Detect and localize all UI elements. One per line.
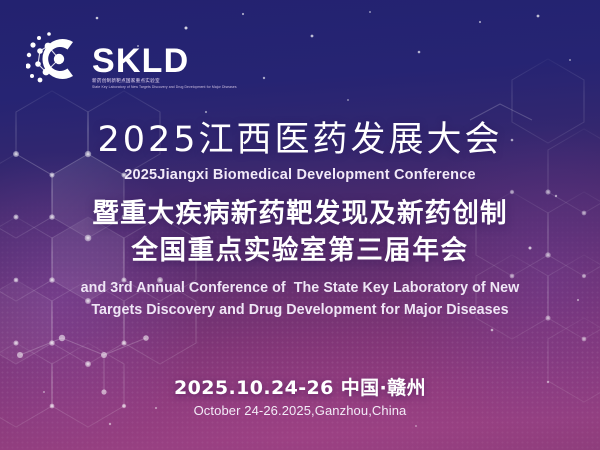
conference-subtitle-cn-line1: 暨重大疾病新药靶发现及新药创制 <box>0 197 600 231</box>
date-venue-block: 2025.10.24-26 中国·赣州 October 24-26.2025,G… <box>0 376 600 419</box>
date-venue-en: October 24-26.2025,Ganzhou,China <box>0 402 600 419</box>
skld-wordmark: SKLD <box>92 45 237 77</box>
skld-lab-name-en: State Key Laboratory of New Targets Disc… <box>92 85 237 89</box>
conference-poster: SKLD 新药创制新靶点国家重点实验室 State Key Laboratory… <box>0 0 600 450</box>
poster-content: 2025江西医药发展大会 2025Jiangxi Biomedical Deve… <box>0 118 600 321</box>
date-venue-cn: 2025.10.24-26 中国·赣州 <box>0 376 600 400</box>
conference-title-cn: 2025江西医药发展大会 <box>0 118 600 162</box>
skld-molecular-c-icon <box>26 28 86 90</box>
conference-subtitle-en-line2: Targets Discovery and Drug Development f… <box>0 299 600 321</box>
conference-title-en: 2025Jiangxi Biomedical Development Confe… <box>0 166 600 184</box>
skld-logo-text: SKLD 新药创制新靶点国家重点实验室 State Key Laboratory… <box>92 45 237 90</box>
conference-subtitle-cn-line2: 全国重点实验室第三届年会 <box>0 234 600 268</box>
conference-subtitle-en-line1: and 3rd Annual Conference of The State K… <box>0 277 600 299</box>
skld-logo: SKLD 新药创制新靶点国家重点实验室 State Key Laboratory… <box>26 28 237 90</box>
